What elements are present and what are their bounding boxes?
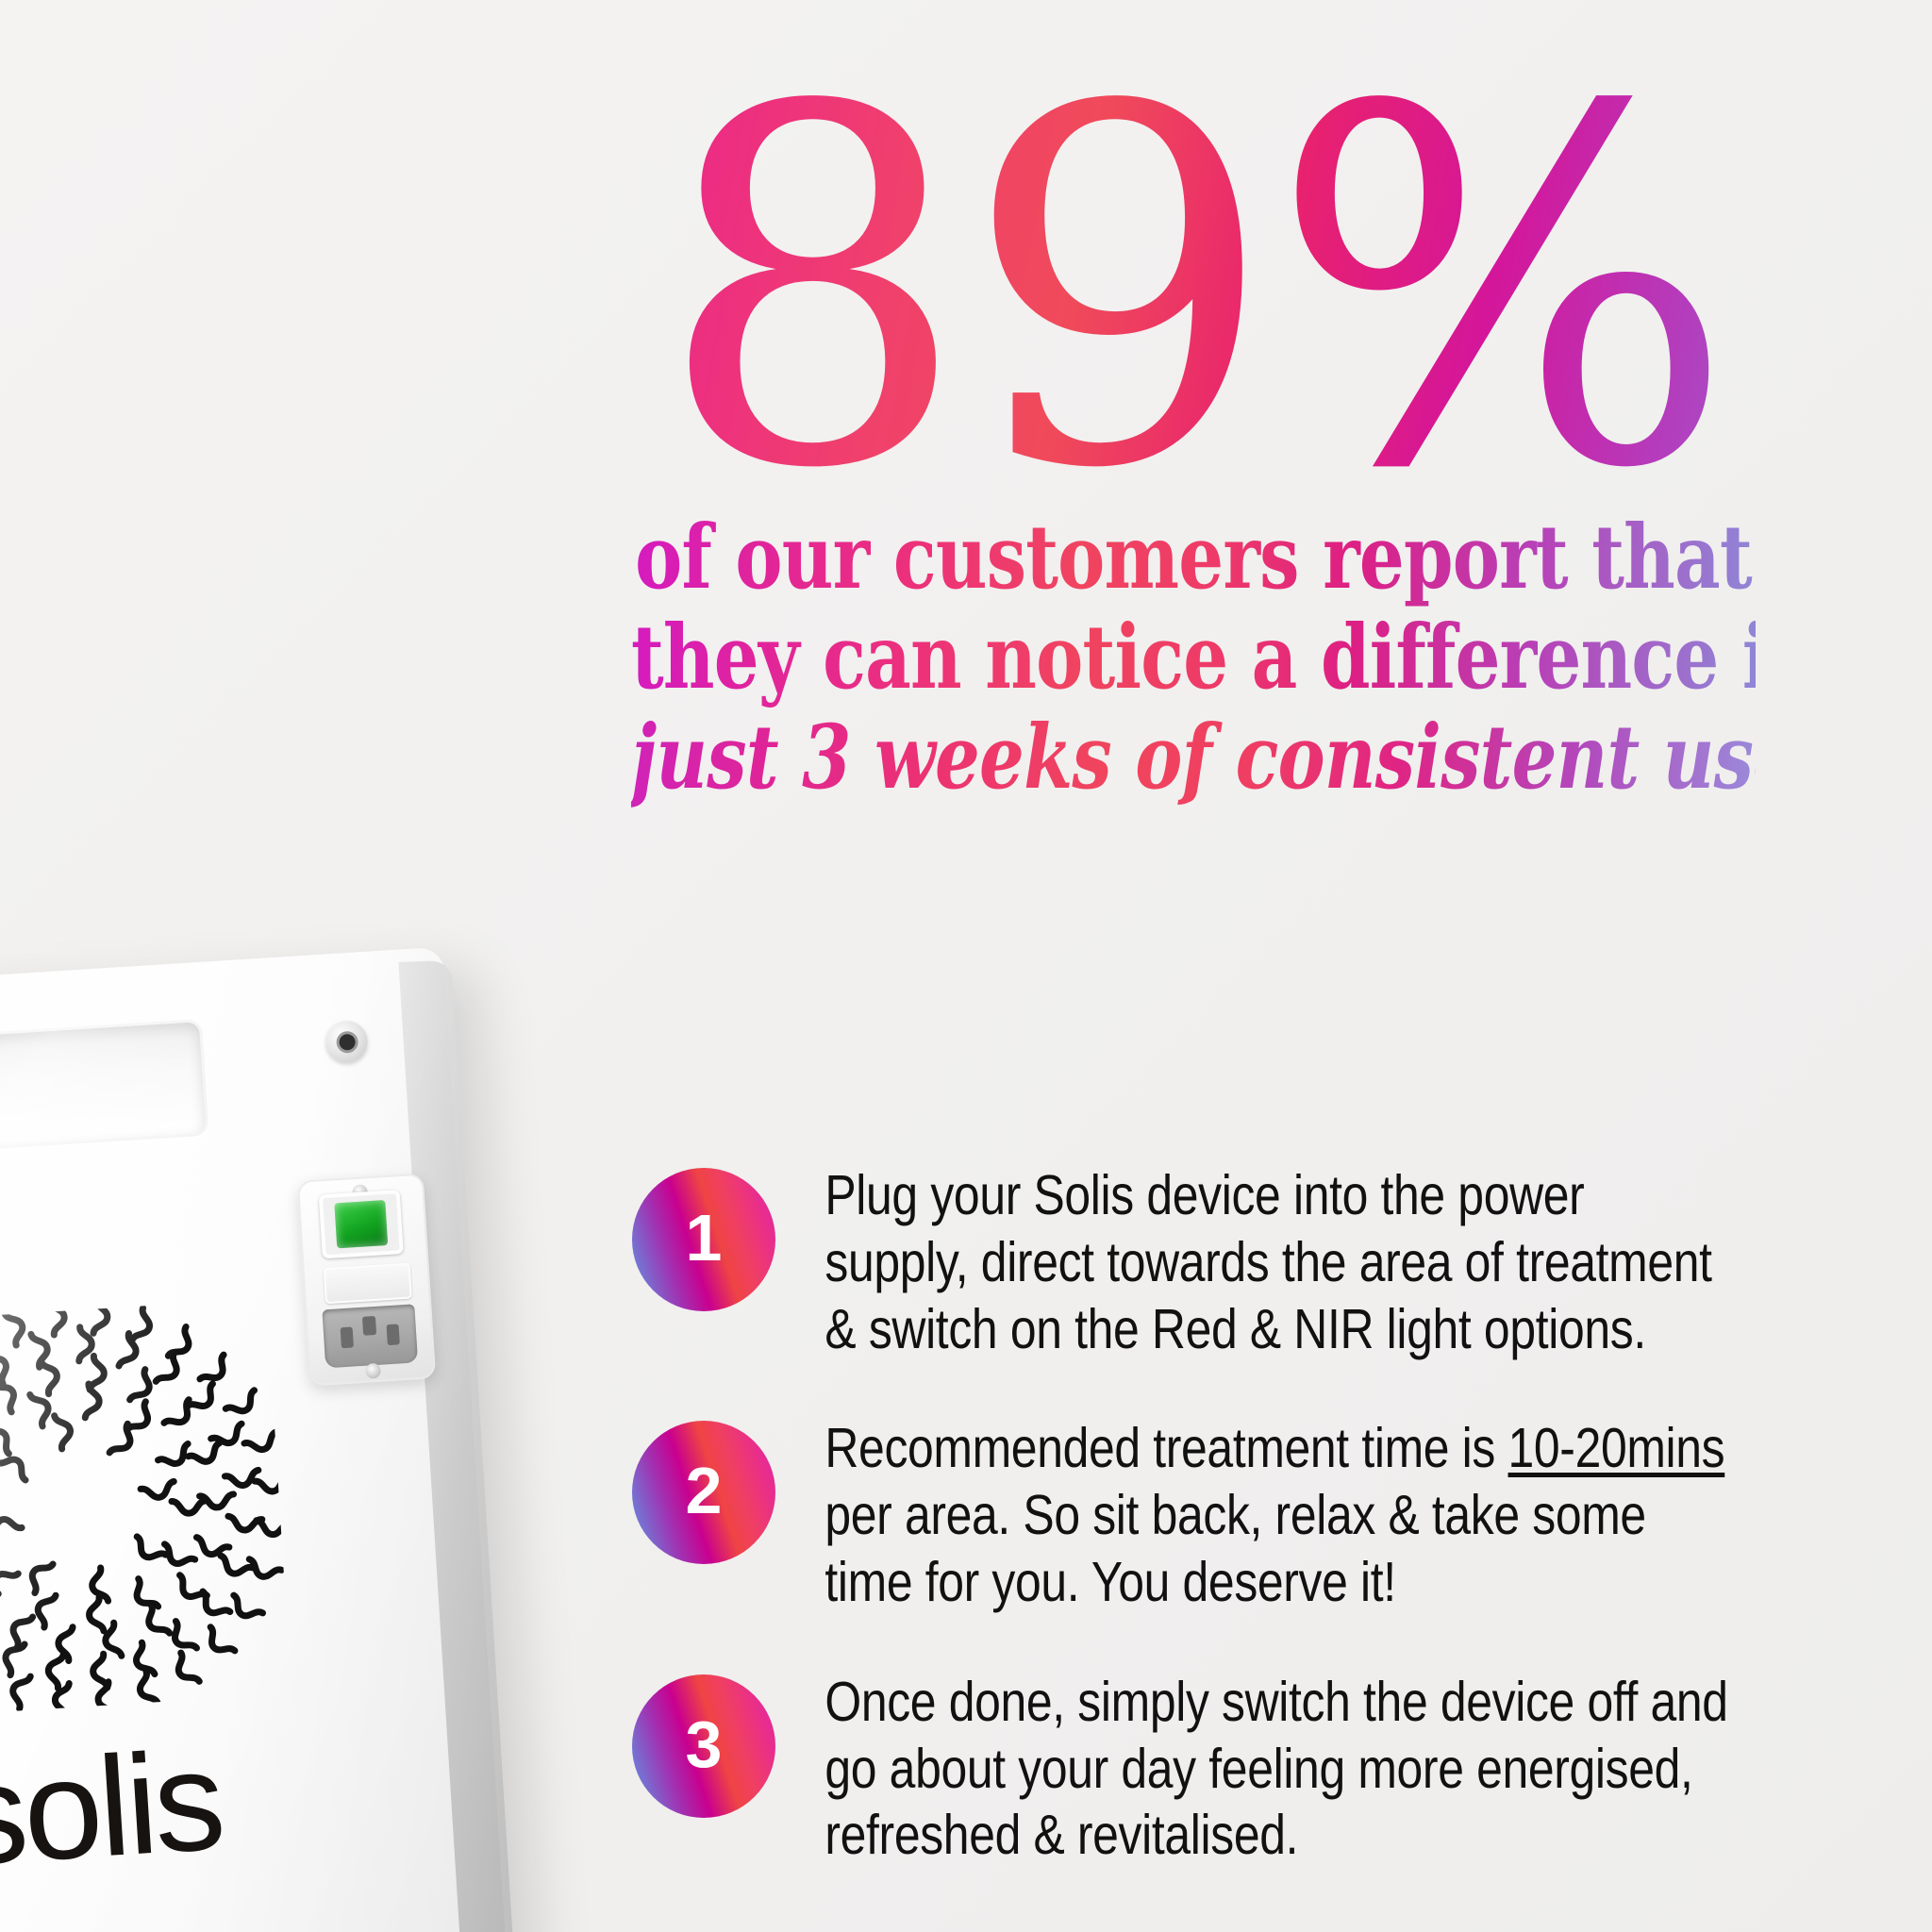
carry-handle — [0, 1019, 209, 1152]
solis-sun-logo-icon — [0, 1298, 291, 1719]
step-text-2-before: Recommended treatment time is — [824, 1417, 1507, 1479]
step-number-badge-3: 3 — [632, 1674, 775, 1818]
step-number-3: 3 — [686, 1711, 723, 1777]
steps-list: 1 Plug your Solis device into the power … — [632, 1162, 1906, 1869]
solis-device-photo: solis — [0, 939, 641, 1932]
headline-line-3: just 3 weeks of consistent use. — [631, 708, 1756, 808]
step-item-2: 2 Recommended treatment time is 10-20min… — [632, 1415, 1906, 1615]
step-text-3: Once done, simply switch the device off … — [824, 1671, 1727, 1867]
step-number-1: 1 — [686, 1205, 723, 1271]
device-control-panel — [297, 1173, 436, 1386]
power-inlet-pin-icon — [362, 1316, 376, 1336]
blank-plate — [324, 1263, 412, 1305]
step-text-1: Plug your Solis device into the power su… — [824, 1164, 1711, 1360]
step-number-badge-1: 1 — [632, 1168, 775, 1311]
step-number-badge-2: 2 — [632, 1421, 775, 1564]
headline-subtext: of our customers report that they can no… — [491, 508, 1896, 808]
solis-wordmark: solis — [0, 1728, 225, 1886]
power-inlet-socket — [322, 1304, 418, 1368]
infographic-canvas: 89% of our customers report that they ca… — [0, 0, 1932, 1932]
step-item-3: 3 Once done, simply switch the device of… — [632, 1669, 1906, 1869]
step-text-2-emphasis: 10-20mins — [1508, 1417, 1725, 1479]
step-description-2: Recommended treatment time is 10-20mins … — [775, 1415, 1730, 1615]
headline-line-2: they can notice a difference in — [631, 608, 1756, 708]
headline-block: 89% of our customers report that they ca… — [491, 57, 1896, 808]
power-switch[interactable] — [319, 1190, 404, 1258]
headline-line-1: of our customers report that — [631, 508, 1756, 608]
power-switch-lamp-icon — [334, 1200, 388, 1248]
step-description-3: Once done, simply switch the device off … — [775, 1669, 1730, 1869]
step-number-2: 2 — [686, 1457, 723, 1524]
step-item-1: 1 Plug your Solis device into the power … — [632, 1162, 1906, 1362]
step-description-1: Plug your Solis device into the power su… — [775, 1162, 1730, 1362]
big-statistic: 89% — [491, 57, 1896, 532]
step-text-2-after: per area. So sit back, relax & take some… — [824, 1484, 1645, 1613]
panel-screw-icon — [365, 1363, 381, 1379]
